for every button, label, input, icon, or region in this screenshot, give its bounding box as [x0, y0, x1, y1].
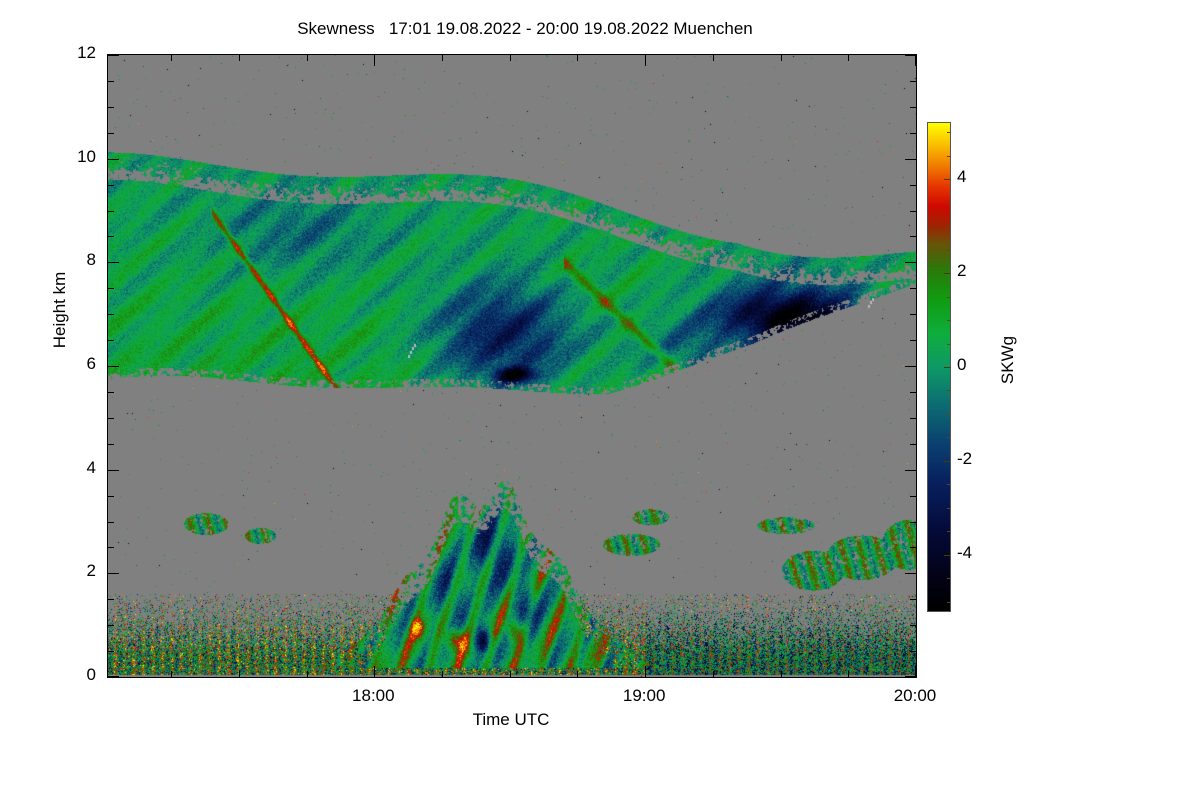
y-axis-tick — [108, 159, 119, 160]
colorbar-tick — [944, 273, 950, 274]
x-axis-tick — [307, 55, 308, 61]
y-axis-tick-label: 4 — [36, 458, 96, 478]
y-axis-tick — [108, 133, 114, 134]
colorbar-tick — [947, 508, 950, 509]
y-axis-tick — [108, 288, 114, 289]
x-axis-tick-label: 19:00 — [584, 686, 704, 706]
heatmap-canvas — [108, 55, 916, 677]
x-axis-tick — [510, 671, 511, 677]
y-axis-tick — [108, 314, 114, 315]
y-axis-tick — [108, 211, 114, 212]
y-axis-tick — [108, 418, 114, 419]
x-axis-tick — [781, 671, 782, 677]
colorbar-label: SKWg — [998, 270, 1018, 450]
y-axis-tick — [905, 366, 916, 367]
x-axis-tick-label: 20:00 — [855, 686, 975, 706]
x-axis-tick — [713, 55, 714, 61]
colorbar-tick — [947, 156, 950, 157]
y-axis-tick — [910, 107, 916, 108]
y-axis-tick — [108, 522, 114, 523]
colorbar-tick-label: -4 — [957, 543, 1003, 563]
y-axis-tick — [108, 651, 114, 652]
colorbar-tick — [947, 414, 950, 415]
y-axis-tick — [905, 262, 916, 263]
y-axis-tick — [108, 625, 114, 626]
y-axis-tick — [910, 547, 916, 548]
y-axis-label: Height km — [50, 210, 70, 410]
x-axis-tick — [442, 55, 443, 61]
y-axis-tick — [108, 676, 119, 677]
colorbar-tick — [947, 250, 950, 251]
chart-title: Skewness 17:01 19.08.2022 - 20:00 19.08.… — [0, 19, 1050, 39]
y-axis-tick — [108, 262, 119, 263]
y-axis-tick — [910, 81, 916, 82]
y-axis-tick — [905, 470, 916, 471]
x-axis-tick — [239, 55, 240, 61]
colorbar-tick — [944, 461, 950, 462]
y-axis-tick — [910, 211, 916, 212]
colorbar-tick — [947, 132, 950, 133]
colorbar-tick — [947, 390, 950, 391]
y-axis-tick — [108, 392, 114, 393]
x-axis-tick — [645, 55, 646, 66]
y-axis-tick — [905, 159, 916, 160]
y-axis-tick — [108, 236, 114, 237]
y-axis-tick — [108, 340, 114, 341]
y-axis-tick — [108, 599, 114, 600]
y-axis-tick — [108, 81, 114, 82]
y-axis-tick-label: 12 — [36, 43, 96, 63]
y-axis-tick — [108, 496, 114, 497]
x-axis-tick — [171, 671, 172, 677]
x-axis-tick — [848, 671, 849, 677]
y-axis-tick — [108, 185, 114, 186]
x-axis-tick — [307, 671, 308, 677]
y-axis-tick — [910, 444, 916, 445]
y-axis-tick — [910, 340, 916, 341]
colorbar-tick-label: 4 — [957, 167, 1003, 187]
colorbar-tick-label: 2 — [957, 261, 1003, 281]
colorbar-tick — [947, 437, 950, 438]
y-axis-tick — [910, 392, 916, 393]
y-axis-tick — [910, 625, 916, 626]
x-axis-tick — [171, 55, 172, 61]
y-axis-tick-label: 2 — [36, 561, 96, 581]
x-axis-tick — [915, 666, 916, 677]
y-axis-tick — [108, 547, 114, 548]
x-axis-tick — [645, 666, 646, 677]
colorbar-tick — [947, 226, 950, 227]
x-axis-tick — [781, 55, 782, 61]
colorbar-tick — [944, 367, 950, 368]
y-axis-tick — [108, 366, 119, 367]
plot-area — [107, 54, 917, 678]
colorbar-tick — [944, 179, 950, 180]
colorbar-tick — [947, 203, 950, 204]
x-axis-label: Time UTC — [107, 710, 915, 730]
y-axis-tick — [910, 651, 916, 652]
y-axis-tick — [108, 444, 114, 445]
x-axis-tick — [577, 671, 578, 677]
y-axis-tick — [910, 522, 916, 523]
colorbar — [927, 122, 951, 612]
y-axis-tick — [108, 470, 119, 471]
y-axis-tick — [910, 133, 916, 134]
y-axis-tick — [910, 288, 916, 289]
colorbar-tick — [947, 320, 950, 321]
x-axis-tick — [577, 55, 578, 61]
y-axis-tick — [108, 107, 114, 108]
colorbar-tick — [947, 344, 950, 345]
y-axis-tick — [910, 418, 916, 419]
colorbar-tick — [944, 555, 950, 556]
colorbar-tick — [947, 531, 950, 532]
x-axis-tick — [374, 55, 375, 66]
y-axis-tick — [108, 55, 119, 56]
x-axis-tick-label: 18:00 — [313, 686, 433, 706]
y-axis-tick — [910, 236, 916, 237]
y-axis-tick — [910, 314, 916, 315]
x-axis-tick — [239, 671, 240, 677]
x-axis-tick — [510, 55, 511, 61]
x-axis-tick — [915, 55, 916, 66]
y-axis-tick-label: 10 — [36, 147, 96, 167]
y-axis-tick-label: 0 — [36, 665, 96, 685]
y-axis-tick — [108, 573, 119, 574]
y-axis-tick — [910, 599, 916, 600]
y-axis-tick — [910, 496, 916, 497]
colorbar-tick — [947, 602, 950, 603]
figure-root: Skewness 17:01 19.08.2022 - 20:00 19.08.… — [0, 0, 1200, 800]
x-axis-tick — [442, 671, 443, 677]
y-axis-tick — [910, 185, 916, 186]
x-axis-tick — [713, 671, 714, 677]
colorbar-tick — [947, 484, 950, 485]
colorbar-tick — [947, 578, 950, 579]
x-axis-tick — [848, 55, 849, 61]
x-axis-tick — [374, 666, 375, 677]
colorbar-tick — [947, 297, 950, 298]
y-axis-tick — [905, 573, 916, 574]
colorbar-tick-label: -2 — [957, 449, 1003, 469]
colorbar-tick-label: 0 — [957, 355, 1003, 375]
